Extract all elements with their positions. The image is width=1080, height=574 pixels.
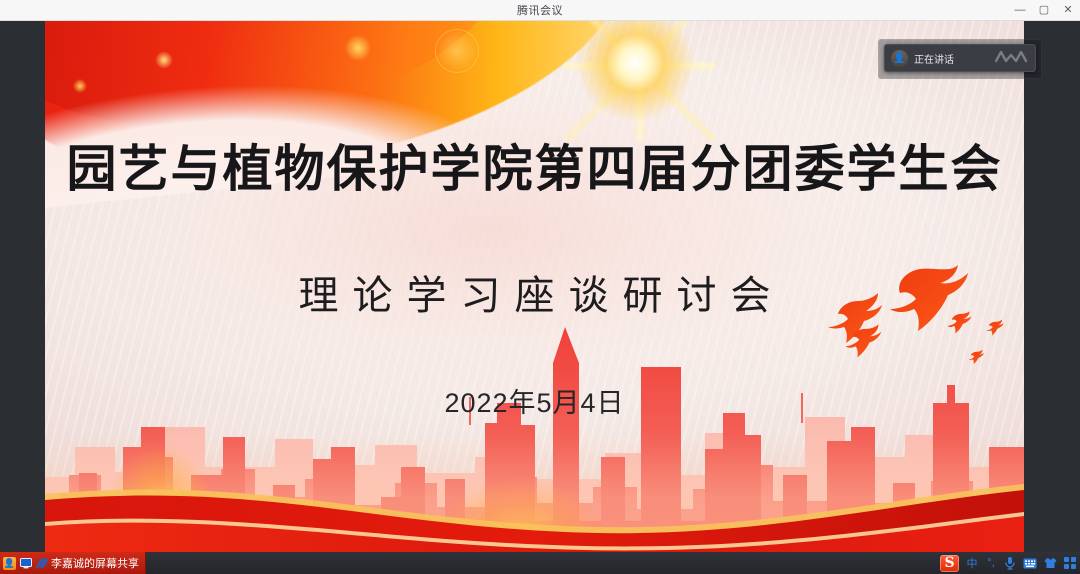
- maximize-button[interactable]: ▢: [1032, 0, 1056, 21]
- speaker-overlay[interactable]: 👤 正在讲话: [884, 44, 1036, 72]
- window-controls: — ▢ ✕: [1008, 0, 1080, 21]
- bokeh-light-2: [345, 35, 371, 61]
- skin-icon[interactable]: [1044, 557, 1057, 569]
- speaker-avatar: 👤: [891, 50, 908, 67]
- window-title: 腾讯会议: [517, 2, 563, 18]
- slide-headline: 园艺与植物保护学院第四届分团委学生会: [45, 129, 1024, 201]
- toolbox-icon[interactable]: [1064, 557, 1076, 569]
- input-mode-chinese-icon[interactable]: 中: [966, 555, 978, 571]
- tencent-meeting-window: 腾讯会议 — ▢ ✕: [0, 0, 1080, 574]
- bokeh-light-3: [435, 29, 479, 73]
- system-tray: S 中 °,: [940, 552, 1080, 574]
- voice-input-icon[interactable]: [1004, 556, 1016, 570]
- share-icon: [35, 557, 48, 570]
- taskbar-item-screen-share[interactable]: 👤 李嘉诚的屏幕共享: [0, 552, 146, 574]
- taskbar: 👤 李嘉诚的屏幕共享 S 中 °,: [0, 552, 1080, 574]
- bokeh-light-1: [155, 51, 173, 69]
- taskbar-item-label: 李嘉诚的屏幕共享: [51, 555, 139, 571]
- slide-subtitle: 理论学习座谈研讨会: [45, 263, 1024, 321]
- bottom-wave-ribbon: [45, 472, 1024, 552]
- soft-keyboard-icon[interactable]: [1023, 558, 1037, 569]
- punctuation-mode-icon[interactable]: °,: [985, 557, 997, 569]
- shared-screen-stage: 园艺与植物保护学院第四届分团委学生会 理论学习座谈研讨会 2022年5月4日 👤…: [0, 21, 1080, 552]
- close-button[interactable]: ✕: [1056, 0, 1080, 21]
- user-icon: 👤: [3, 557, 16, 570]
- bokeh-light-4: [73, 79, 87, 93]
- speaking-status-label: 正在讲话: [914, 51, 954, 66]
- sogou-logo-icon[interactable]: S: [940, 555, 959, 572]
- monitor-icon: [19, 557, 32, 570]
- window-title-bar: 腾讯会议 — ▢ ✕: [0, 0, 1080, 21]
- presentation-slide: 园艺与植物保护学院第四届分团委学生会 理论学习座谈研讨会 2022年5月4日: [45, 21, 1024, 552]
- bottom-wave-ribbon-icon: [45, 472, 1024, 552]
- minimize-button[interactable]: —: [1008, 0, 1032, 21]
- audio-waveform-icon: [995, 49, 1029, 68]
- slide-date: 2022年5月4日: [45, 381, 1024, 420]
